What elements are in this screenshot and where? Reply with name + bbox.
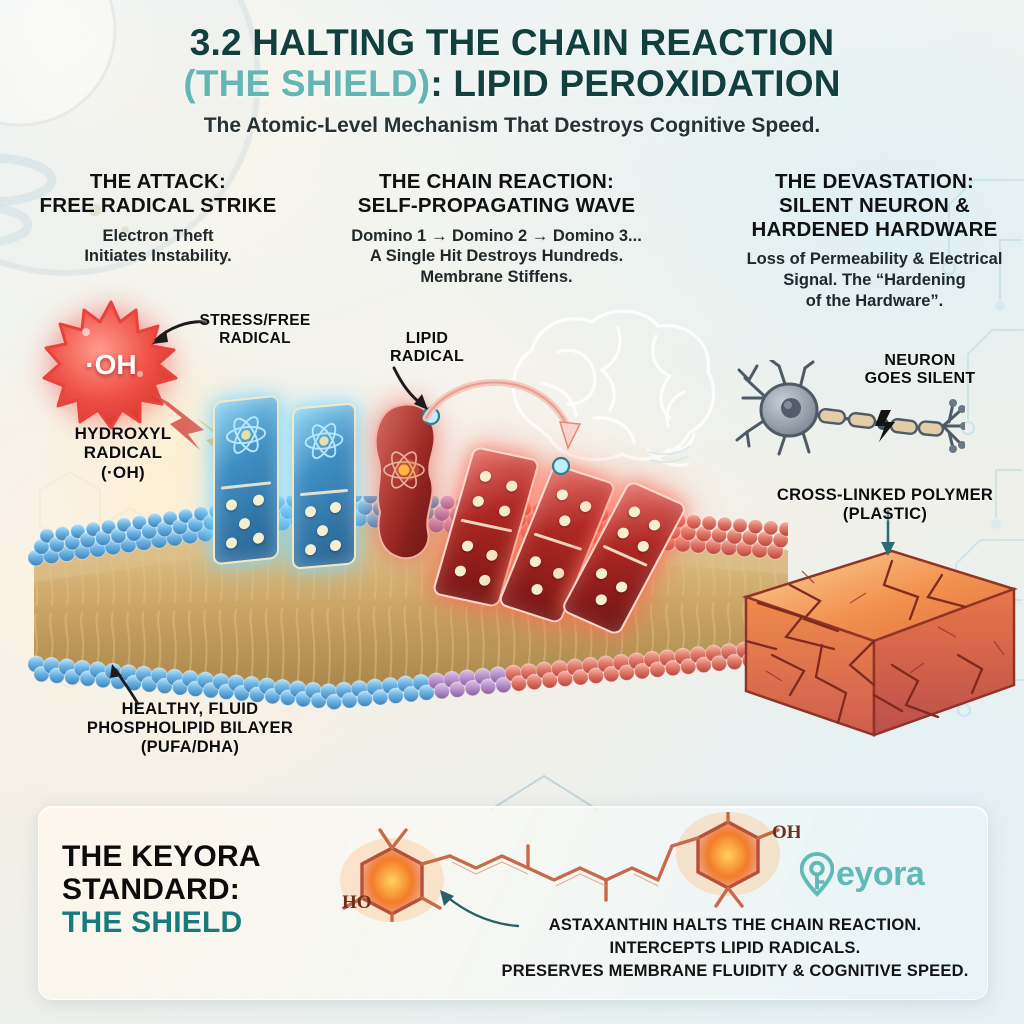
astaxanthin-molecule-diagram: HO OH bbox=[330, 812, 800, 922]
column-devastation-body-l2: Signal. The “Hardening bbox=[783, 271, 965, 289]
column-attack-heading-l2: FREE RADICAL STRIKE bbox=[40, 194, 277, 217]
title-shield-text: (THE SHIELD) bbox=[183, 63, 430, 104]
page-title: 3.2 HALTING THE CHAIN REACTION (THE SHIE… bbox=[0, 22, 1024, 105]
column-devastation-heading-l1: THE DEVASTATION: bbox=[775, 170, 974, 193]
molecule-oh-label: OH bbox=[772, 822, 800, 843]
keyora-wordmark: eyora bbox=[836, 855, 924, 894]
column-chain-body-l3: Membrane Stiffens. bbox=[420, 268, 572, 286]
column-attack-body-l2: Initiates Instability. bbox=[84, 247, 231, 265]
cross-linked-polymer-block bbox=[742, 545, 1018, 745]
column-devastation-body-l1: Loss of Permeability & Electrical bbox=[747, 250, 1003, 268]
column-devastation-heading: THE DEVASTATION: SILENT NEURON & HARDENE… bbox=[685, 170, 1024, 241]
column-attack-body-l1: Electron Theft bbox=[103, 227, 214, 245]
column-chain-reaction: THE CHAIN REACTION: SELF-PROPAGATING WAV… bbox=[316, 170, 677, 312]
molecule-ho-label: HO bbox=[342, 892, 372, 913]
column-attack-body: Electron Theft Initiates Instability. bbox=[8, 226, 308, 268]
panel-note-l2: INTERCEPTS LIPID RADICALS. bbox=[610, 939, 861, 957]
column-chain-body: Domino 1 → Domino 2 → Domino 3... A Sing… bbox=[324, 226, 669, 289]
infographic-canvas: 3.2 HALTING THE CHAIN REACTION (THE SHIE… bbox=[0, 0, 1024, 1024]
panel-title-l2: STANDARD: bbox=[62, 873, 240, 906]
column-chain-body-l1: Domino 1 → Domino 2 → Domino 3... bbox=[351, 227, 642, 245]
column-devastation: THE DEVASTATION: SILENT NEURON & HARDENE… bbox=[677, 170, 1024, 312]
panel-note: ASTAXANTHIN HALTS THE CHAIN REACTION. IN… bbox=[470, 914, 1000, 982]
domino-healthy-2 bbox=[292, 402, 356, 570]
page-subtitle: The Atomic-Level Mechanism That Destroys… bbox=[0, 114, 1024, 138]
atom-icon bbox=[298, 413, 350, 470]
stress-free-radical-label: STRESS/FREE RADICAL bbox=[185, 312, 325, 347]
phospholipid-bilayer-label: HEALTHY, FLUID PHOSPHOLIPID BILAYER (PUF… bbox=[50, 700, 330, 756]
column-devastation-heading-l2: SILENT NEURON & bbox=[779, 194, 970, 217]
column-attack-heading: THE ATTACK: FREE RADICAL STRIKE bbox=[8, 170, 308, 218]
column-devastation-body: Loss of Permeability & Electrical Signal… bbox=[685, 249, 1024, 312]
panel-note-l3: PRESERVES MEMBRANE FLUIDITY & COGNITIVE … bbox=[502, 962, 969, 980]
column-chain-heading-l1: THE CHAIN REACTION: bbox=[379, 170, 614, 193]
keyora-logo[interactable]: eyora bbox=[800, 845, 975, 903]
column-devastation-body-l3: of the Hardware”. bbox=[806, 292, 944, 310]
panel-title-l1: THE KEYORA bbox=[62, 840, 261, 873]
column-chain-heading-l2: SELF-PROPAGATING WAVE bbox=[358, 194, 636, 217]
keyora-key-mark-icon bbox=[800, 851, 834, 897]
lipid-radical-label: LIPID RADICAL bbox=[372, 330, 482, 366]
panel-title: THE KEYORA STANDARD: THE SHIELD bbox=[62, 840, 332, 939]
title-line-1: 3.2 HALTING THE CHAIN REACTION bbox=[190, 22, 835, 63]
cross-linked-polymer-label: CROSS-LINKED POLYMER (PLASTIC) bbox=[752, 486, 1018, 524]
column-devastation-heading-l3: HARDENED HARDWARE bbox=[752, 218, 998, 241]
neuron-goes-silent-label: NEURON GOES SILENT bbox=[840, 352, 1000, 388]
atom-icon bbox=[219, 405, 273, 465]
column-attack: THE ATTACK: FREE RADICAL STRIKE Electron… bbox=[0, 170, 316, 312]
domino-healthy-1 bbox=[213, 395, 279, 566]
header: 3.2 HALTING THE CHAIN REACTION (THE SHIE… bbox=[0, 22, 1024, 138]
column-chain-body-l2: A Single Hit Destroys Hundreds. bbox=[370, 247, 623, 265]
free-electron-icon-2 bbox=[550, 455, 572, 477]
column-attack-heading-l1: THE ATTACK: bbox=[90, 170, 226, 193]
title-line-2: : LIPID PEROXIDATION bbox=[430, 63, 840, 104]
hydroxyl-radical-label: HYDROXYL RADICAL (·OH) bbox=[48, 424, 198, 482]
column-headings: THE ATTACK: FREE RADICAL STRIKE Electron… bbox=[0, 170, 1024, 312]
panel-note-l1: ASTAXANTHIN HALTS THE CHAIN REACTION. bbox=[549, 916, 922, 934]
column-chain-heading: THE CHAIN REACTION: SELF-PROPAGATING WAV… bbox=[324, 170, 669, 218]
panel-title-shield: THE SHIELD bbox=[62, 906, 242, 939]
